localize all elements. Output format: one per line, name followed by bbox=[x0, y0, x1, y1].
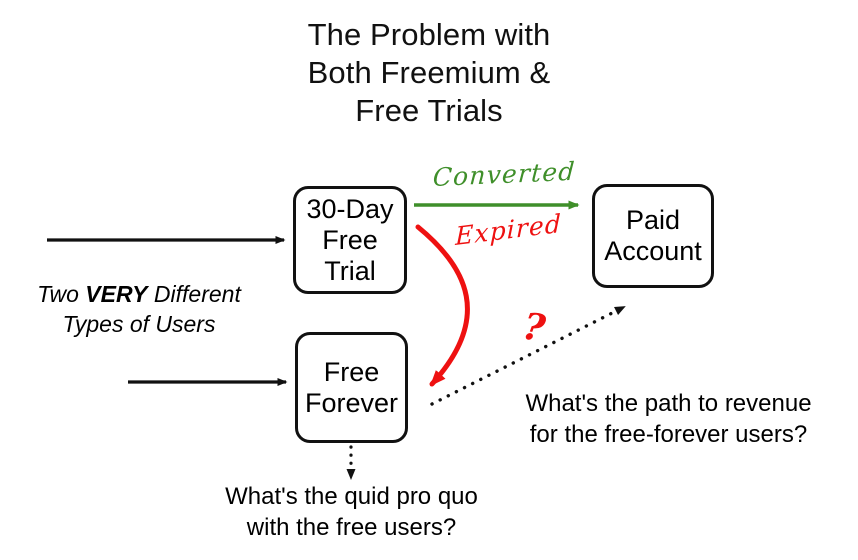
annotation-quid-line-1: What's the quid pro quo bbox=[164, 481, 539, 512]
node-free-line-1: Free bbox=[324, 357, 380, 388]
node-free-forever[interactable]: Free Forever bbox=[295, 332, 408, 443]
node-paid-line-2: Account bbox=[604, 236, 702, 267]
annotation-quid-pro-quo: What's the quid pro quo with the free us… bbox=[164, 481, 539, 543]
node-paid-line-1: Paid bbox=[626, 205, 680, 236]
node-30-day-free-trial[interactable]: 30-Day Free Trial bbox=[293, 186, 407, 294]
node-trial-line-2: Free bbox=[322, 225, 378, 256]
annotation-quid-line-2: with the free users? bbox=[164, 512, 539, 543]
left-caption-line-2: Types of Users bbox=[0, 309, 278, 339]
annotation-revenue-line-1: What's the path to revenue bbox=[479, 388, 858, 419]
node-paid-account[interactable]: Paid Account bbox=[592, 184, 714, 288]
page-title: The Problem with Both Freemium & Free Tr… bbox=[229, 16, 629, 130]
diagram-canvas: The Problem with Both Freemium & Free Tr… bbox=[0, 0, 858, 560]
left-caption-emphasis: VERY bbox=[85, 281, 147, 307]
annotation-revenue-line-2: for the free-forever users? bbox=[479, 419, 858, 450]
node-trial-line-3: Trial bbox=[324, 256, 376, 287]
title-line-2: Both Freemium & bbox=[229, 54, 629, 92]
title-line-1: The Problem with bbox=[229, 16, 629, 54]
left-caption-two-very-different-types-of-users: Two VERY Different Types of Users bbox=[0, 279, 278, 339]
node-free-line-2: Forever bbox=[305, 388, 398, 419]
node-trial-line-1: 30-Day bbox=[306, 194, 393, 225]
arrow-expired bbox=[418, 227, 467, 384]
left-caption-post: Different bbox=[148, 281, 241, 307]
left-caption-line-1: Two VERY Different bbox=[0, 279, 278, 309]
title-line-3: Free Trials bbox=[229, 92, 629, 130]
left-caption-pre: Two bbox=[37, 281, 85, 307]
annotation-path-to-revenue: What's the path to revenue for the free-… bbox=[479, 388, 858, 450]
